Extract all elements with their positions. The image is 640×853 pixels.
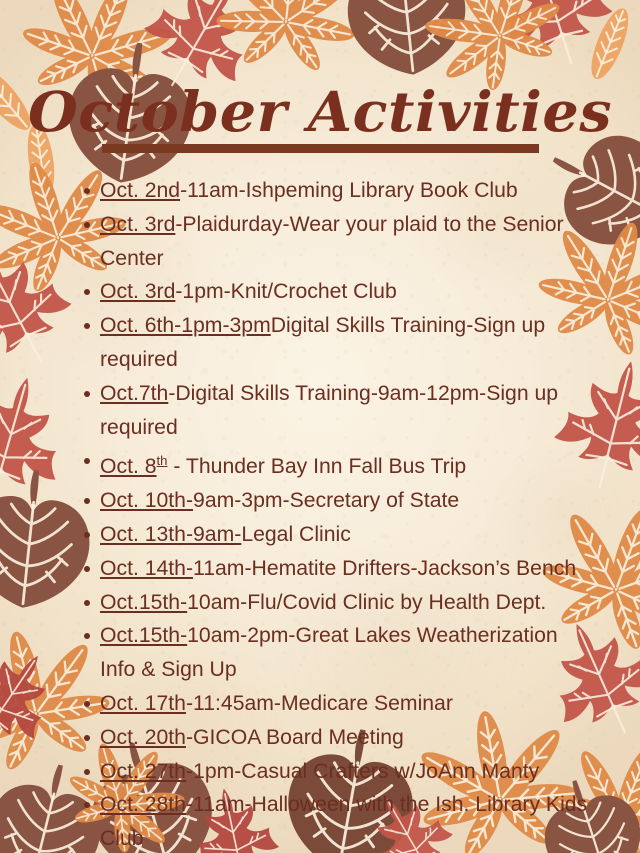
activity-date: Oct. 27th [100, 760, 186, 783]
activity-description: 9am-3pm-Secretary of State [193, 489, 459, 512]
title-underline-rule [102, 144, 539, 153]
activity-date: Oct.15th- [100, 591, 187, 614]
activity-item: Oct. 27th-1pm-Casual Crafters w/JoAnn Ma… [78, 755, 590, 789]
activity-date: Oct. 6th-1pm-3pm [100, 314, 271, 337]
activity-item: Oct.7th-Digital Skills Training-9am-12pm… [78, 377, 590, 445]
activity-date: Oct. 10th- [100, 489, 193, 512]
activity-item: Oct. 8th - Thunder Bay Inn Fall Bus Trip [78, 444, 590, 484]
activities-list: Oct. 2nd-11am-Ishpeming Library Book Clu… [78, 174, 590, 853]
activity-item: Oct. 6th-1pm-3pmDigital Skills Training-… [78, 309, 590, 377]
activity-date: Oct. 3rd [100, 213, 175, 236]
october-activities-poster: October Activities Oct. 2nd-11am-Ishpemi… [0, 0, 640, 853]
activity-item: Oct. 3rd-Plaidurday-Wear your plaid to t… [78, 208, 590, 276]
title-block: October Activities [0, 84, 640, 153]
activity-date: Oct. 20th [100, 726, 186, 749]
activity-description: 11am-Hematite Drifters-Jackson’s Bench [193, 557, 576, 580]
activity-date: Oct. 17th [100, 692, 186, 715]
activity-description: -11:45am-Medicare Seminar [186, 692, 453, 715]
activity-description: -11am-Ishpeming Library Book Club [180, 179, 518, 202]
activity-item: Oct. 2nd-11am-Ishpeming Library Book Clu… [78, 174, 590, 208]
activity-item: Oct. 28th-11am-Halloween with the Ish. L… [78, 788, 590, 853]
activity-item: Oct. 13th-9am-Legal Clinic [78, 518, 590, 552]
activity-item: Oct. 10th-9am-3pm-Secretary of State [78, 484, 590, 518]
activity-date: Oct. 13th-9am- [100, 523, 241, 546]
activity-description: 10am-Flu/Covid Clinic by Health Dept. [187, 591, 546, 614]
activity-date: Oct. 2nd [100, 179, 180, 202]
activity-item: Oct. 17th-11:45am-Medicare Seminar [78, 687, 590, 721]
activity-date: Oct. 28th [100, 793, 186, 816]
activity-date: Oct. 14th- [100, 557, 193, 580]
poster-content: October Activities Oct. 2nd-11am-Ishpemi… [0, 0, 640, 853]
activity-description: -Digital Skills Training-9am-12pm-Sign u… [100, 382, 558, 439]
activity-date: Oct.7th [100, 382, 168, 405]
activity-item: Oct. 20th-GICOA Board Meeting [78, 721, 590, 755]
activity-description: -GICOA Board Meeting [186, 726, 404, 749]
activity-date: Oct. 8 [100, 455, 157, 478]
activity-item: Oct.15th-10am-2pm-Great Lakes Weatheriza… [78, 619, 590, 687]
activity-description: - Thunder Bay Inn Fall Bus Trip [167, 455, 466, 478]
activity-date: Oct. 3rd [100, 280, 175, 303]
page-title: October Activities [0, 84, 640, 139]
activity-description: -1pm-Knit/Crochet Club [175, 280, 396, 303]
activity-date-ordinal-suffix: th [157, 453, 168, 468]
activity-item: Oct. 3rd-1pm-Knit/Crochet Club [78, 275, 590, 309]
activity-description: -1pm-Casual Crafters w/JoAnn Manty [186, 760, 539, 783]
activity-item: Oct.15th-10am-Flu/Covid Clinic by Health… [78, 586, 590, 620]
activity-date: Oct.15th- [100, 624, 187, 647]
activity-description: Legal Clinic [241, 523, 351, 546]
activity-item: Oct. 14th-11am-Hematite Drifters-Jackson… [78, 552, 590, 586]
